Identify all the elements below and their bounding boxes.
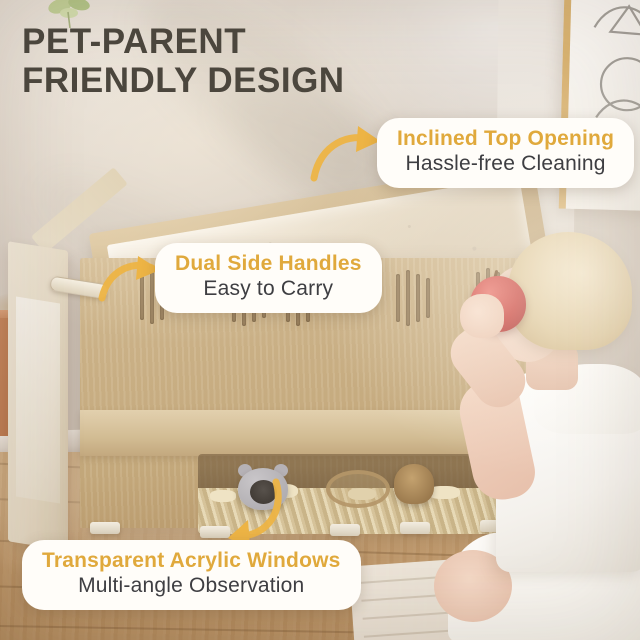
child-with-apple <box>430 232 640 640</box>
callout-transparent-acrylic-windows[interactable]: Transparent Acrylic Windows Multi-angle … <box>22 540 361 610</box>
cage-foot <box>400 522 430 534</box>
callout-title: Inclined Top Opening <box>397 126 614 151</box>
pine-cone <box>394 464 434 504</box>
page-title-line-2: FRIENDLY DESIGN <box>22 61 462 100</box>
page-title: PET-PARENT FRIENDLY DESIGN <box>22 22 462 100</box>
child-hand <box>460 294 504 338</box>
cage-foot <box>330 524 360 536</box>
product-feature-image: PET-PARENT FRIENDLY DESIGN Inclined Top … <box>0 0 640 640</box>
page-title-line-1: PET-PARENT <box>22 22 246 61</box>
exercise-wheel <box>326 470 390 508</box>
callout-title: Transparent Acrylic Windows <box>42 548 341 573</box>
cage-foot <box>90 522 120 534</box>
callout-dual-side-handles[interactable]: Dual Side Handles Easy to Carry <box>155 243 382 313</box>
callout-subtitle: Multi-angle Observation <box>42 573 341 600</box>
callout-title: Dual Side Handles <box>175 251 362 276</box>
callout-inclined-top-opening[interactable]: Inclined Top Opening Hassle-free Cleanin… <box>377 118 634 188</box>
callout-subtitle: Hassle-free Cleaning <box>397 151 614 178</box>
cage-left-acrylic-window <box>16 297 60 504</box>
callout-subtitle: Easy to Carry <box>175 276 362 303</box>
child-hair <box>508 232 632 350</box>
